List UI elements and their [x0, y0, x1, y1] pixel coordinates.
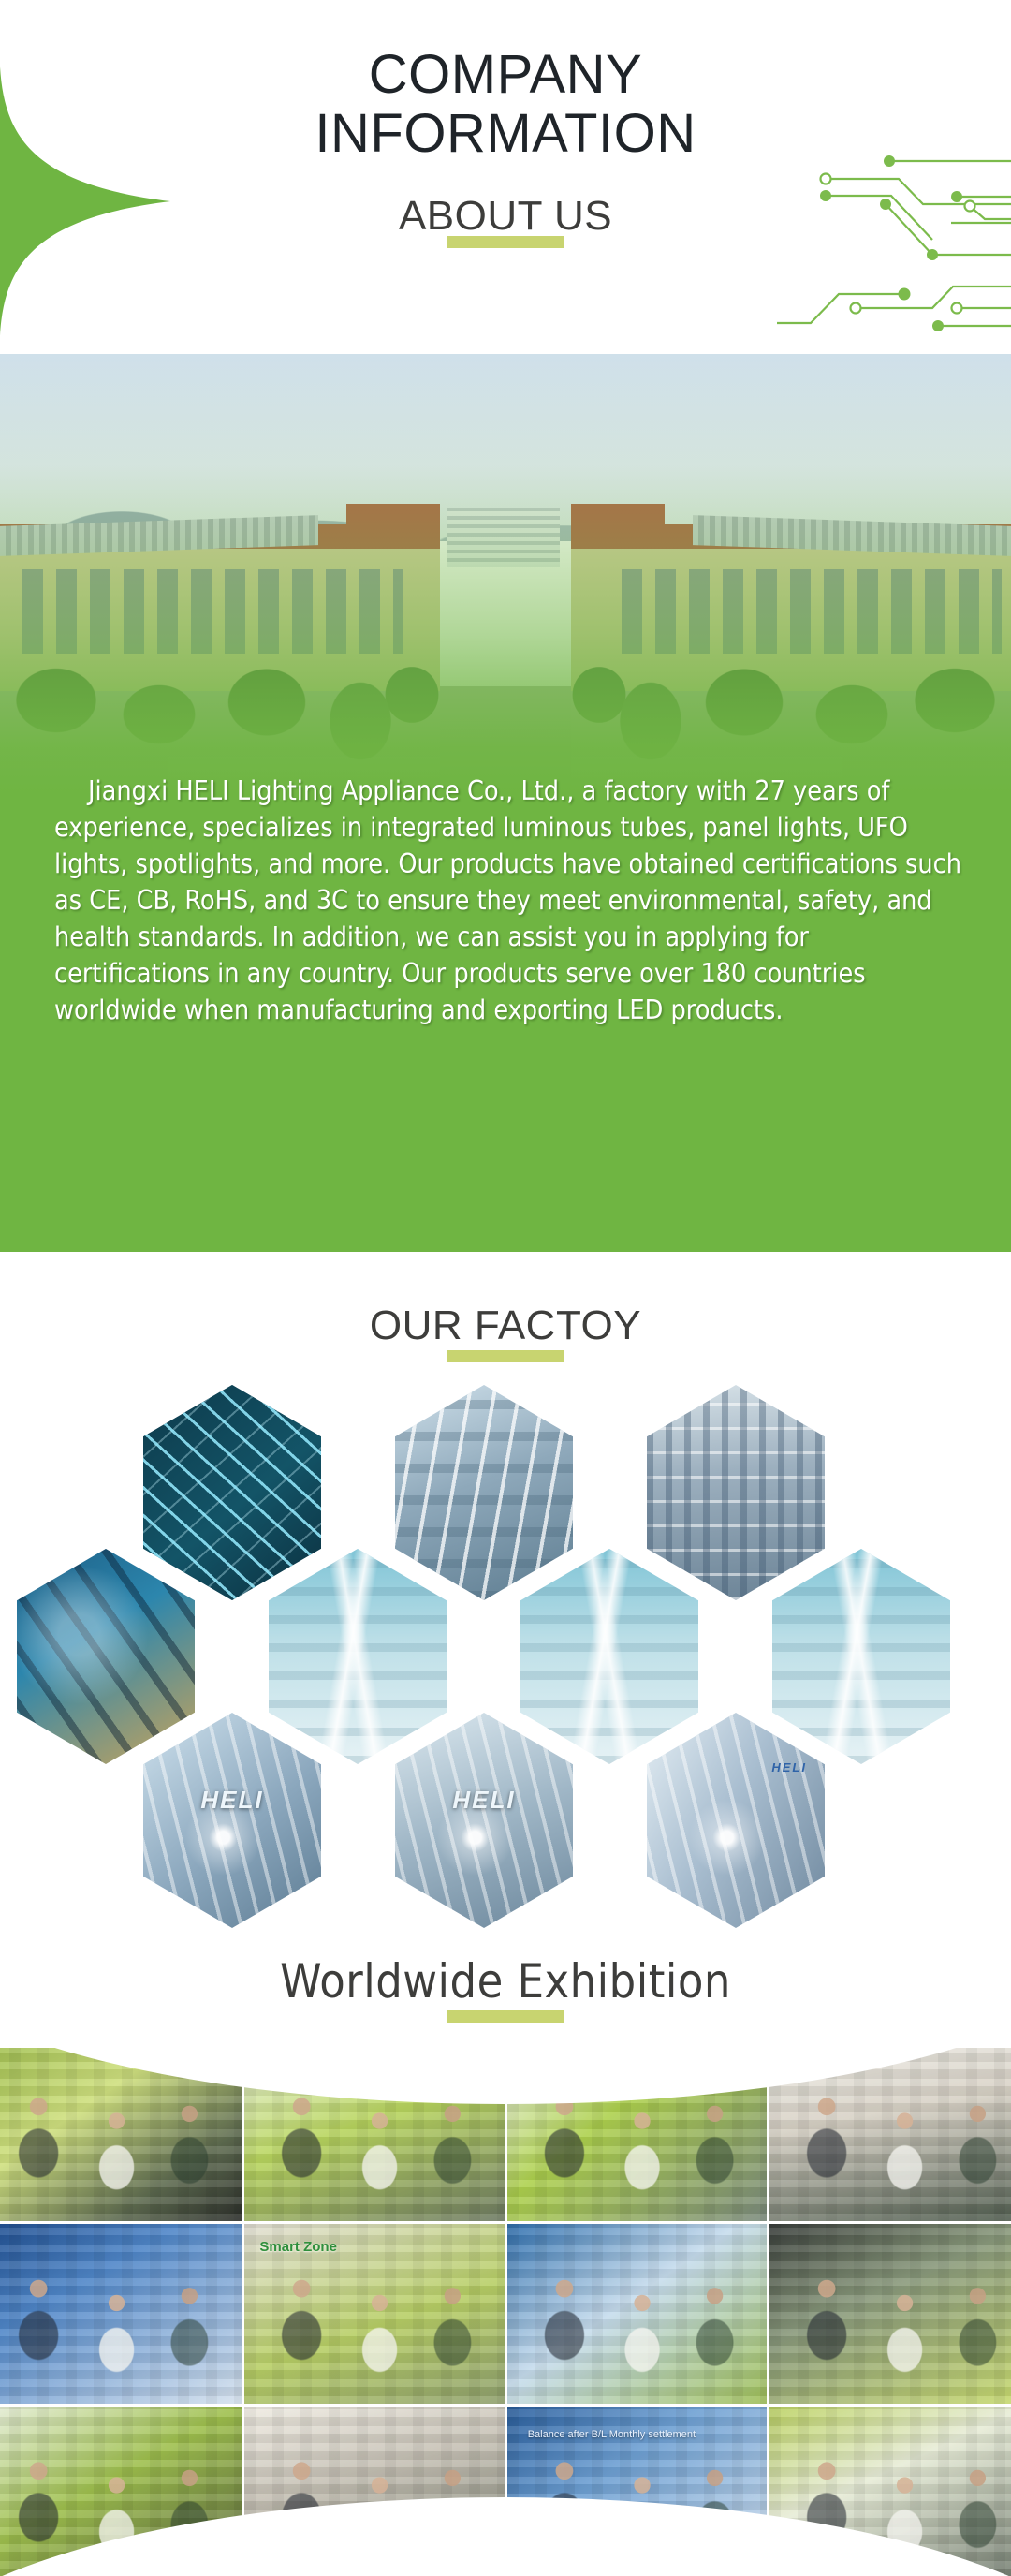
worldwide-exhibition-section: Worldwide Exhibition Smart Zone Balance …: [0, 1945, 1011, 2576]
hex-tile-machine-workshop[interactable]: [395, 1385, 573, 1600]
heli-logo-text-3: HELI: [771, 1760, 807, 1774]
header-titles: COMPANY INFORMATION ABOUT US: [0, 0, 1011, 248]
page-title-line2: INFORMATION: [0, 104, 1011, 163]
our-factory-section: OUR FACTOY HELI HELI HELI: [0, 1252, 1011, 1945]
hex-tile-assembly-aisle-1[interactable]: [269, 1549, 447, 1764]
exhibition-photo-collage: Smart Zone Balance after B/L Monthly set…: [0, 2048, 1011, 2576]
hex-tile-heli-cleanroom-entrance[interactable]: HELI: [395, 1713, 573, 1928]
about-section: 江西合力照明科技有限公司 Jiangxi HELI Lighting Appli…: [0, 354, 1011, 1252]
hex-tile-assembly-aisle-2[interactable]: [520, 1549, 698, 1764]
exhibition-heading-underline: [447, 2010, 564, 2023]
exhibition-photo-booth-visitor-chat[interactable]: [0, 2224, 242, 2403]
about-us-heading: ABOUT US: [399, 193, 612, 248]
banner-caption: Balance after B/L Monthly settlement: [528, 2428, 696, 2441]
exhibition-photo-panel-light-wall-demo[interactable]: [769, 2224, 1011, 2403]
hexagon-gallery: HELI HELI HELI: [0, 1379, 1011, 1922]
hex-tile-warehouse-hall[interactable]: [772, 1549, 950, 1764]
hex-tile-robotic-arm-pcb[interactable]: [17, 1549, 195, 1764]
exhibition-heading: Worldwide Exhibition: [0, 1945, 1011, 2023]
heli-logo-text-2: HELI: [395, 1786, 573, 1815]
exhibition-photo-smart-zone-display[interactable]: Smart Zone: [244, 2224, 505, 2403]
hex-tile-led-strip-assembly-line[interactable]: [143, 1385, 321, 1600]
page-title: COMPANY INFORMATION: [0, 0, 1011, 163]
hex-tile-heli-office-tower[interactable]: HELI: [647, 1713, 825, 1928]
page-title-line1: COMPANY: [0, 45, 1011, 104]
hex-tile-heli-building-exterior[interactable]: HELI: [143, 1713, 321, 1928]
hero-header: COMPANY INFORMATION ABOUT US: [0, 0, 1011, 354]
our-factory-heading: OUR FACTOY: [0, 1252, 1011, 1362]
heli-logo-text-1: HELI: [143, 1786, 321, 1815]
about-us-heading-label: ABOUT US: [399, 193, 612, 240]
about-paragraph: Jiangxi HELI Lighting Appliance Co., Ltd…: [54, 773, 962, 1028]
our-factory-heading-underline: [447, 1350, 564, 1362]
exhibition-heading-label: Worldwide Exhibition: [0, 1954, 1011, 2009]
smart-zone-caption: Smart Zone: [259, 2239, 337, 2255]
our-factory-heading-label: OUR FACTOY: [0, 1303, 1011, 1349]
exhibition-photo-booth-screen-presentation[interactable]: [507, 2224, 768, 2403]
hex-tile-production-floor-overview[interactable]: [647, 1385, 825, 1600]
